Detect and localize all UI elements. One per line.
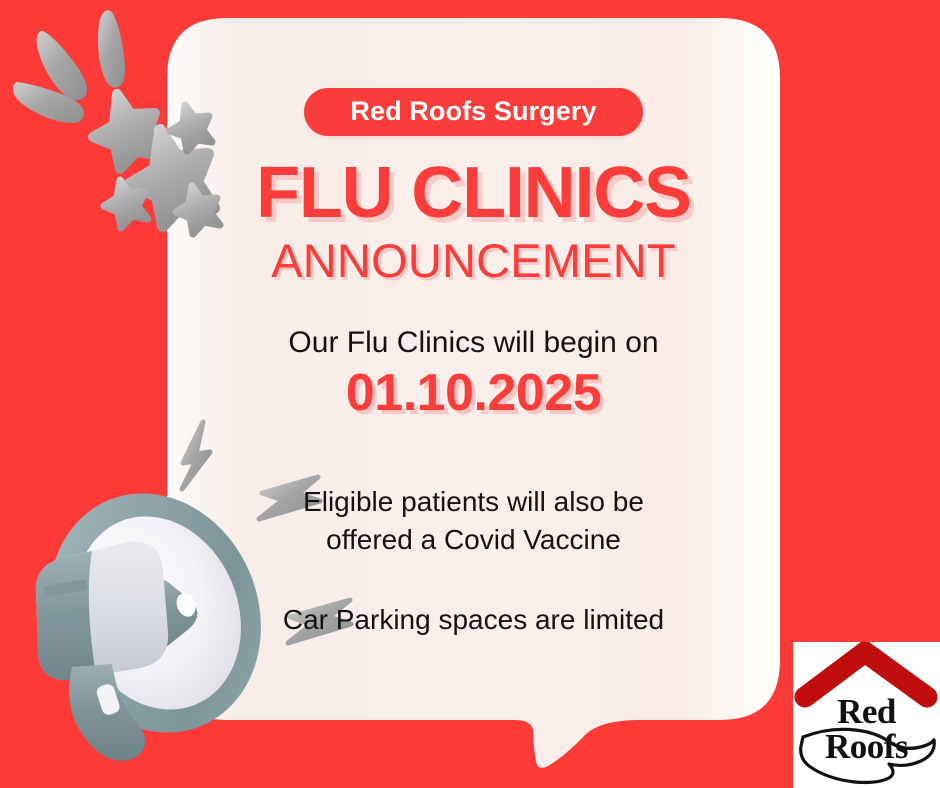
logo-wordmark: Red Roofs — [793, 694, 940, 764]
star-icon — [93, 94, 160, 169]
lead-text: Our Flu Clinics will begin on — [288, 326, 658, 361]
start-date: 01.10.2025 — [346, 366, 601, 421]
covid-vaccine-note: Eligible patients will also be offered a… — [264, 483, 684, 559]
burst-ray-icon — [37, 31, 87, 100]
star-icon — [104, 180, 148, 228]
page-title: FLU CLINICS — [256, 158, 691, 229]
parking-note: Car Parking spaces are limited — [264, 601, 684, 639]
flu-clinic-announcement-poster: Red Roofs Surgery FLU CLINICS ANNOUNCEME… — [0, 0, 940, 788]
page-subtitle: ANNOUNCEMENT — [271, 237, 676, 284]
red-roofs-logo: Red Roofs — [793, 642, 940, 788]
surgery-name-badge: Red Roofs Surgery — [304, 88, 642, 136]
burst-ray-icon — [98, 10, 125, 88]
roof-chevron-icon — [805, 652, 927, 697]
burst-ray-icon — [13, 82, 84, 123]
poster-content: Red Roofs Surgery FLU CLINICS ANNOUNCEME… — [167, 0, 780, 720]
